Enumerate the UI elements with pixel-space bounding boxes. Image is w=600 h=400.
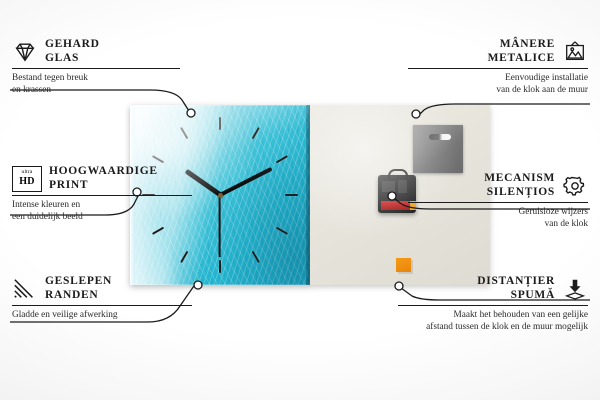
callout-header: GEHARD GLAS <box>12 38 192 65</box>
clock-tick <box>220 194 298 196</box>
callout-rule <box>12 195 192 196</box>
callout-desc-line2: van de klok aan de muur <box>496 85 588 95</box>
callout-title-line2: METALICE <box>488 52 555 64</box>
callout-desc-line1: Maakt het behouden van een gelijke <box>454 310 589 320</box>
callout-desc-line1: Intense kleuren en <box>12 200 80 210</box>
metal-hanger-plate <box>413 125 463 173</box>
callout-title-line1: MECANISM <box>484 172 555 184</box>
callout-desc-line1: Gladde en veilige afwerking <box>12 310 118 320</box>
diamond-icon <box>12 40 38 64</box>
mechanism-hook <box>388 169 408 179</box>
callout-rule <box>398 305 588 306</box>
callout-rule <box>408 202 588 203</box>
callout-gehard-glas: GEHARD GLAS Bestand tegen breuk en krass… <box>12 38 192 96</box>
callout-distantier-spuma: DISTANȚIER SPUMĂ Maakt het behouden van … <box>398 275 588 333</box>
callout-header: ultra HD HOOGWAARDIGE PRINT <box>12 165 197 192</box>
callout-hoogwaardige-print: ultra HD HOOGWAARDIGE PRINT Intense kleu… <box>12 165 197 223</box>
callout-title-line2: GLAS <box>45 52 79 64</box>
hanger-slot <box>429 134 451 140</box>
callout-header: MÂNERE METALICE <box>408 38 588 65</box>
clock-second-hand <box>219 195 221 257</box>
callout-title-line2: RANDEN <box>45 289 98 301</box>
callout-desc-line2: en krassen <box>12 85 51 95</box>
callout-geslepen-randen: GESLEPEN RANDEN Gladde en veilige afwerk… <box>12 275 197 322</box>
callout-header: GESLEPEN RANDEN <box>12 275 197 302</box>
callout-header: DISTANȚIER SPUMĂ <box>398 275 588 302</box>
picture-frame-hook-icon <box>562 40 588 64</box>
callout-manere-metalice: MÂNERE METALICE Eenvoudige installatie v… <box>408 38 588 96</box>
callout-title-line2: SILENȚIOS <box>487 186 555 198</box>
callout-desc-line1: Geruisloze wijzers <box>519 207 588 217</box>
mechanism-detail-right <box>398 180 407 193</box>
ultra-hd-icon-small-text: ultra <box>22 170 33 175</box>
callout-title-line2: PRINT <box>49 179 88 191</box>
callout-desc-line2: een duidelijk beeld <box>12 212 83 222</box>
callout-title-line1: HOOGWAARDIGE <box>49 165 158 177</box>
callout-desc-line1: Bestand tegen breuk <box>12 73 88 83</box>
callout-title-line1: DISTANȚIER <box>477 275 555 287</box>
ultra-hd-icon: ultra HD <box>12 166 42 192</box>
foam-spacer <box>396 258 411 272</box>
callout-desc-line2: afstand tussen de klok en de muur mogeli… <box>426 322 588 332</box>
infographic-canvas: GEHARD GLAS Bestand tegen breuk en krass… <box>0 0 600 400</box>
callout-desc-line1: Eenvoudige installatie <box>505 73 588 83</box>
callout-desc-line2: van de klok <box>545 219 588 229</box>
spacer-down-arrow-icon <box>562 277 588 301</box>
ultra-hd-icon-large-text: HD <box>19 177 35 187</box>
callout-rule <box>12 305 192 306</box>
callout-rule <box>408 68 588 69</box>
callout-mecanism-silentios: MECANISM SILENȚIOS Geruisloze wijzers va… <box>408 172 588 230</box>
clock-center-cap <box>218 193 223 198</box>
clock-tick <box>219 117 221 195</box>
callout-rule <box>12 68 180 69</box>
callout-title-line1: GEHARD <box>45 38 100 50</box>
callout-header: MECANISM SILENȚIOS <box>408 172 588 199</box>
diagonal-stripes-icon <box>12 277 38 301</box>
mechanism-detail-left <box>382 181 395 192</box>
callout-title-line1: MÂNERE <box>500 38 555 50</box>
callout-title-line2: SPUMĂ <box>511 289 555 301</box>
gear-icon <box>562 174 588 198</box>
callout-title-line1: GESLEPEN <box>45 275 112 287</box>
